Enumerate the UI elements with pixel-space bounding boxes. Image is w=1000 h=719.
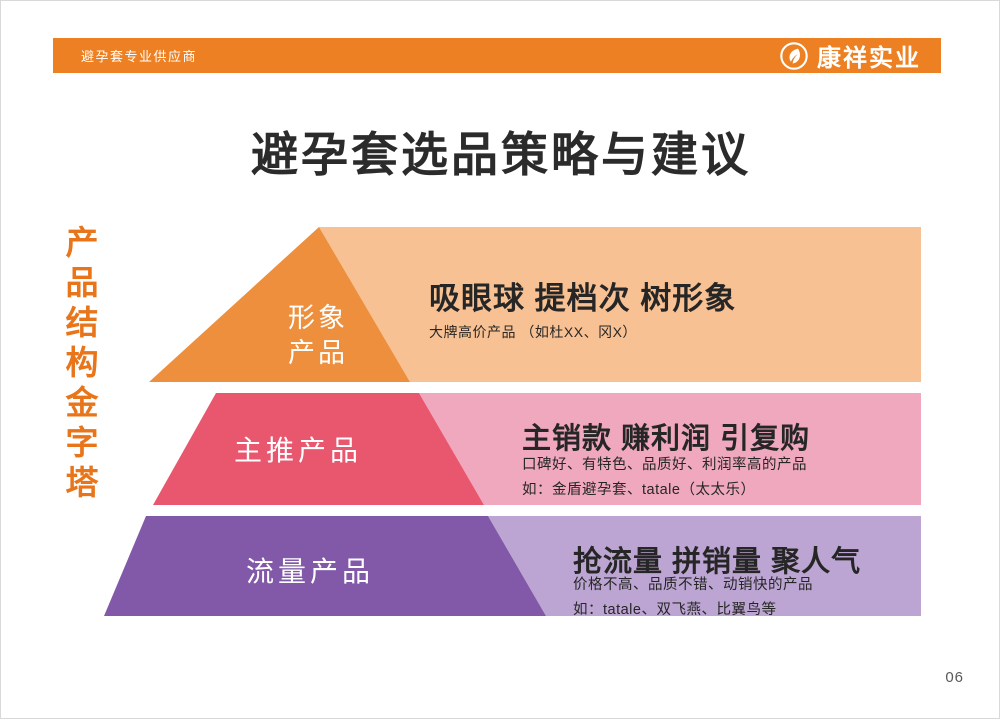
tier-3-subtext: 价格不高、品质不错、动销快的产品 如：tatale、双飞燕、比翼鸟等 [573,573,813,623]
page-number: 06 [945,669,964,686]
tier-3-label: 流量产品 [246,554,426,590]
tier-1-headline: 吸眼球 提档次 树形象 [429,273,736,318]
pyramid-diagram: 形象 产品 吸眼球 提档次 树形象 大牌高价产品 （如杜XX、冈X） 主推产品 … [1,1,1000,719]
tier-2-subtext: 口碑好、有特色、品质好、利润率高的产品 如：金盾避孕套、tatale（太太乐） [522,453,807,503]
tier-1-subtext: 大牌高价产品 （如杜XX、冈X） [429,321,637,343]
tier-2-headline: 主销款 赚利润 引复购 [522,415,810,457]
tier-2-label: 主推产品 [234,433,414,469]
tier-1-label: 形象 产品 [263,301,373,371]
slide-canvas: 避孕套专业供应商 康祥实业 避孕套选品策略与建议 产 品 结 构 金 字 塔 [0,0,1000,719]
